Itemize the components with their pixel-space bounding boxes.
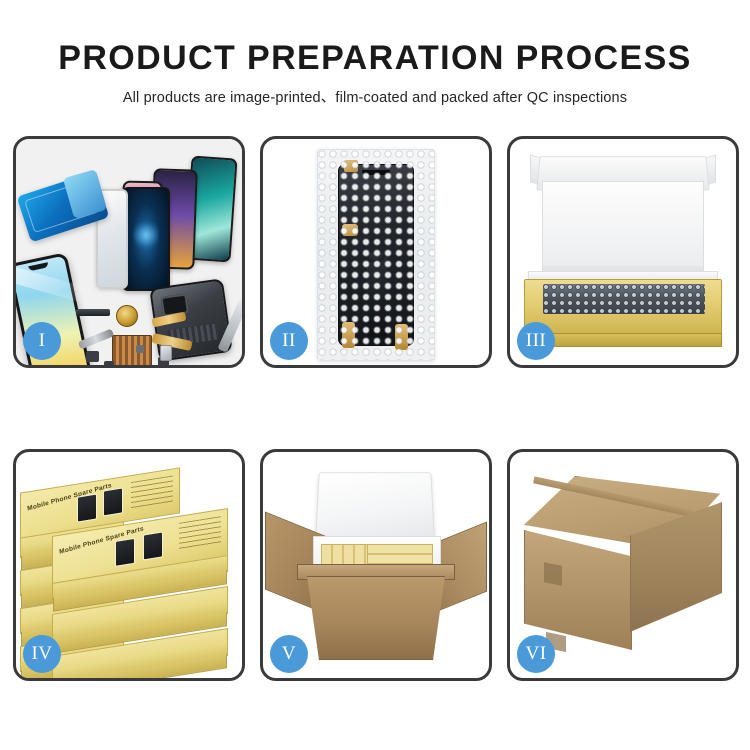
box-window-icon — [143, 531, 163, 560]
step-badge-4: IV — [23, 635, 61, 673]
sim-tray-icon — [160, 345, 172, 361]
chip-grid-icon — [112, 335, 152, 365]
phone-dark-display-icon — [122, 187, 170, 291]
bubble-wrapped-contents — [543, 284, 705, 314]
carton-tape-patch — [544, 562, 562, 586]
bubble-texture — [318, 150, 434, 360]
box-window-icon — [103, 487, 123, 516]
box-window-icon — [77, 493, 97, 522]
kraft-box-tray — [524, 279, 722, 335]
component-part-icon — [86, 351, 99, 362]
foam-lid — [315, 472, 435, 537]
battery-connector-icon — [76, 309, 110, 316]
carton-body — [301, 576, 451, 660]
step-badge-3: III — [517, 322, 555, 360]
header: PRODUCT PREPARATION PROCESS All products… — [0, 38, 750, 107]
page-subtitle: All products are image-printed、film-coat… — [0, 86, 750, 107]
step-badge-1: I — [23, 322, 61, 360]
process-step-panel-1: I — [13, 136, 245, 368]
speaker-coil-icon — [116, 305, 138, 327]
step-badge-2: II — [270, 322, 308, 360]
page-title: PRODUCT PREPARATION PROCESS — [0, 38, 750, 78]
process-step-panel-3: III — [507, 136, 739, 368]
product-preparation-infographic: PRODUCT PREPARATION PROCESS All products… — [0, 0, 750, 750]
component-part-icon — [104, 361, 114, 365]
component-part-icon — [136, 345, 144, 353]
retail-box-label: Mobile Phone Spare Parts — [27, 482, 112, 513]
process-step-panel-6: VI — [507, 449, 739, 681]
step-badge-6: VI — [517, 635, 555, 673]
process-step-panel-5: V — [260, 449, 492, 681]
box-window-icon — [115, 538, 135, 567]
box-spec-text-lines — [179, 516, 221, 551]
process-step-grid: I II — [13, 136, 739, 681]
bubble-wrap-bag — [317, 149, 435, 361]
carton-front-face — [524, 530, 632, 650]
box-spec-text-lines — [131, 475, 173, 510]
process-step-panel-2: II — [260, 136, 492, 368]
step-badge-5: V — [270, 635, 308, 673]
process-step-panel-4: Mobile Phone Spare Parts Mobile Phone Sp… — [13, 449, 245, 681]
